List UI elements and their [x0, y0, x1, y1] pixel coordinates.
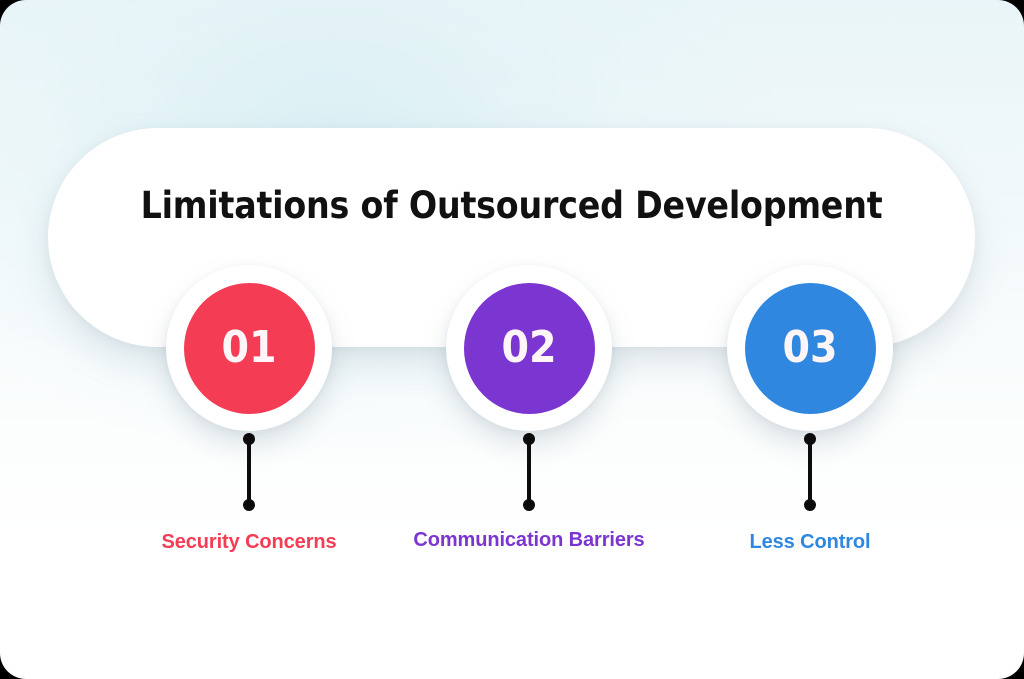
connector-stem — [527, 438, 531, 507]
connector-dot-bottom-icon — [523, 499, 535, 511]
step-number-1: 01 — [221, 326, 276, 370]
step-badge-2[interactable]: 02 — [464, 283, 595, 414]
step-label-1: Security Concerns — [99, 531, 399, 554]
step-item-3[interactable]: 03 Less Control — [660, 0, 960, 679]
step-badge-3[interactable]: 03 — [745, 283, 876, 414]
step-item-1[interactable]: 01 Security Concerns — [99, 0, 399, 679]
connector-dot-bottom-icon — [243, 499, 255, 511]
connector-stem — [247, 438, 251, 507]
infographic-canvas: Limitations of Outsourced Development 01… — [0, 0, 1024, 679]
connector-stem — [808, 438, 812, 507]
step-label-3: Less Control — [660, 531, 960, 554]
step-number-3: 03 — [782, 326, 837, 370]
step-item-2[interactable]: 02 Communication Barriers — [379, 0, 679, 679]
step-connector-1 — [243, 433, 255, 513]
infographic-root: Limitations of Outsourced Development 01… — [0, 0, 1024, 679]
step-label-2: Communication Barriers — [379, 529, 679, 552]
step-connector-2 — [523, 433, 535, 513]
step-number-2: 02 — [501, 326, 556, 370]
steps-container: 01 Security Concerns 02 — [0, 0, 1024, 679]
step-connector-3 — [804, 433, 816, 513]
step-badge-1[interactable]: 01 — [184, 283, 315, 414]
connector-dot-bottom-icon — [804, 499, 816, 511]
